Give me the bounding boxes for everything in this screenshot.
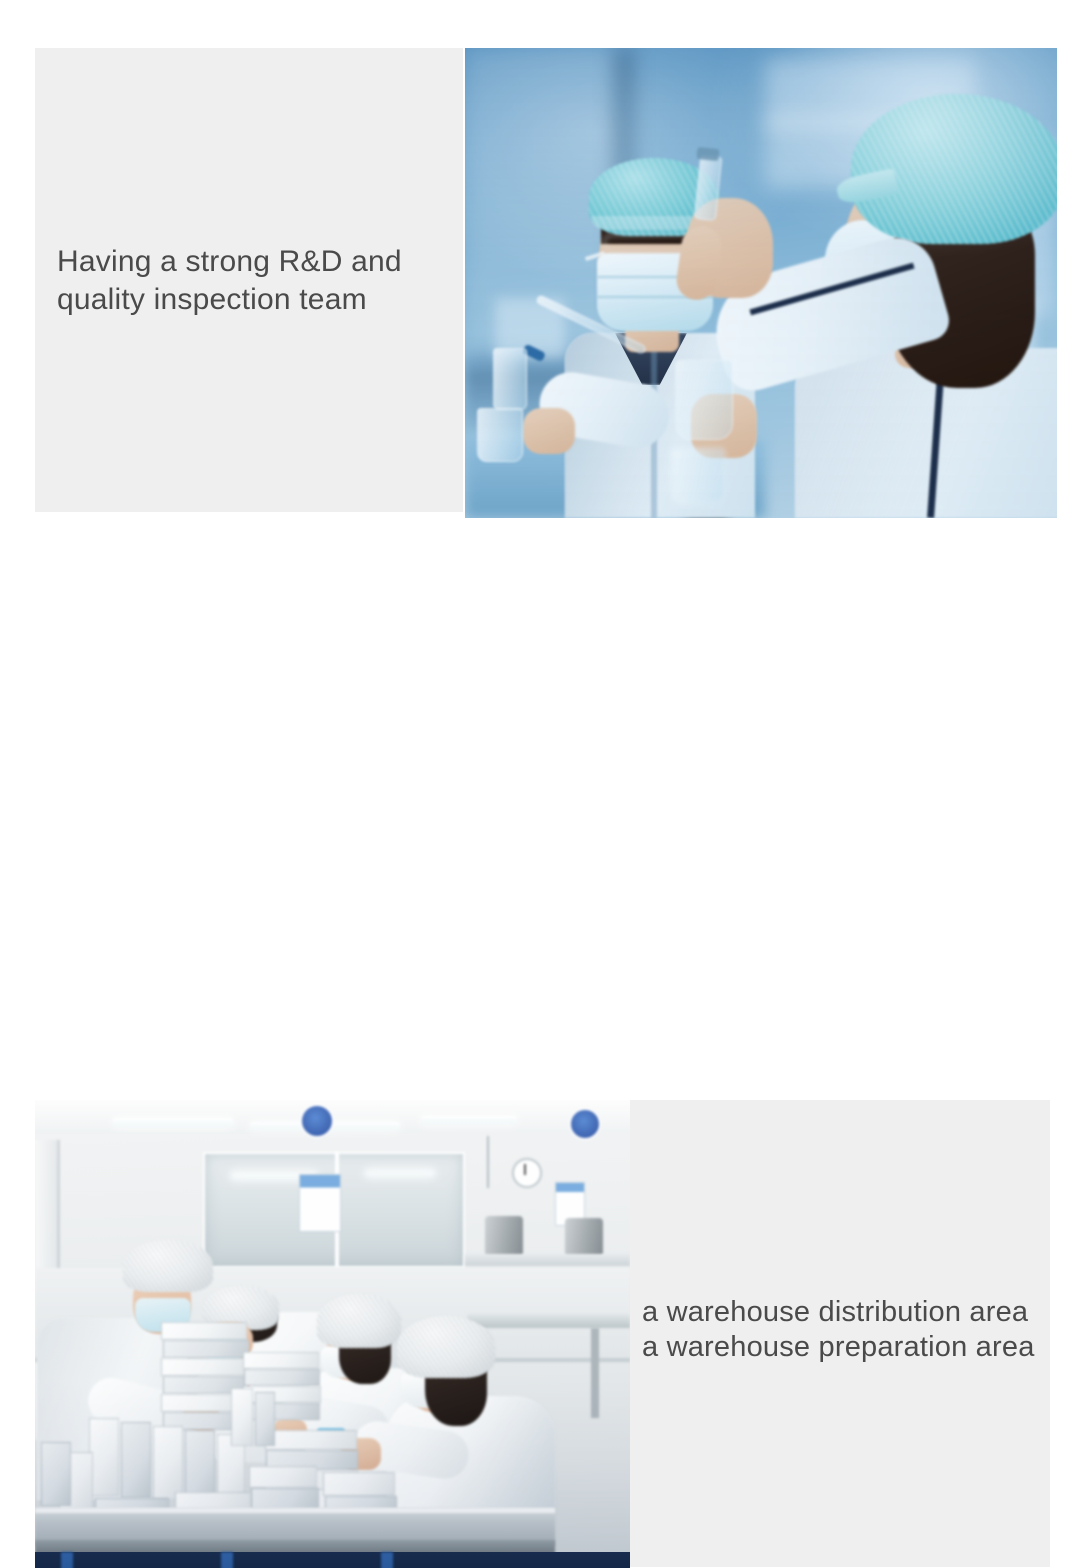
- section-warehouse: a warehouse distribution area a warehous…: [0, 540, 1080, 1080]
- lab-highlight-overlay: [465, 48, 1057, 518]
- section-rnd-quality: Having a strong R&D and quality inspecti…: [0, 0, 1080, 540]
- rnd-caption-text: Having a strong R&D and quality inspecti…: [57, 243, 457, 319]
- warehouse-packing-photo: [35, 1100, 630, 1568]
- warehouse-color-grade: [35, 1100, 630, 1568]
- lab-inspection-photo: [465, 48, 1057, 518]
- warehouse-caption-text: a warehouse distribution area a warehous…: [642, 1295, 1062, 1365]
